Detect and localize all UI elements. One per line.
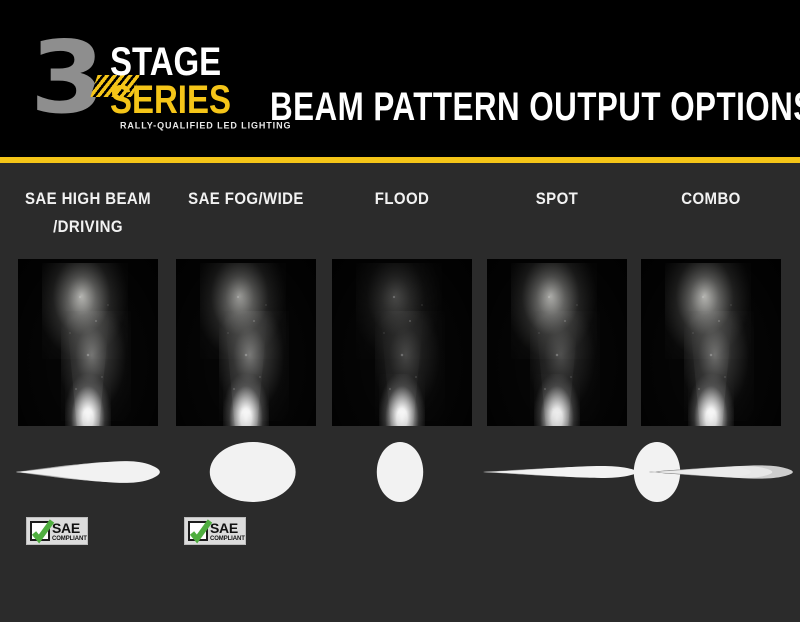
beam-column-fog-wide: SAE FOG/WIDE SAE COMPLIANT: [176, 163, 316, 622]
brand-logo: 3 STAGE SERIES RALLY-QUALIFIED LED LIGHT…: [28, 28, 238, 132]
beam-photo-vignette: [176, 259, 316, 426]
beam-column-combo: COMBO: [641, 163, 781, 622]
sae-badge-text: SAE COMPLIANT: [210, 521, 245, 542]
beam-label-line1: COMBO: [681, 189, 741, 208]
page-header: 3 STAGE SERIES RALLY-QUALIFIED LED LIGHT…: [0, 0, 800, 157]
beam-photo-vignette: [332, 259, 472, 426]
sae-badge-word: SAE: [52, 521, 87, 535]
sae-badge-text: SAE COMPLIANT: [52, 521, 87, 542]
beam-pattern-diagram: [629, 441, 793, 503]
beam-photo-vignette: [641, 259, 781, 426]
logo-word-series: SERIES: [110, 80, 231, 120]
beam-column-driving: SAE HIGH BEAM /DRIVING SAE COMPLIANT: [18, 163, 158, 622]
beam-pattern-diagram: [475, 441, 639, 503]
beam-column-label: SPOT: [473, 185, 641, 213]
sae-compliant-badge: SAE COMPLIANT: [184, 517, 246, 545]
beam-label-line1: SAE FOG/WIDE: [188, 189, 304, 208]
beam-column-label: FLOOD: [318, 185, 486, 213]
beam-photo-vignette: [487, 259, 627, 426]
logo-tagline: RALLY-QUALIFIED LED LIGHTING: [120, 120, 291, 131]
beam-photo: [176, 259, 316, 426]
checkmark-icon: [188, 521, 208, 541]
beam-photo: [487, 259, 627, 426]
beam-pattern-diagram: [320, 441, 484, 503]
checkmark-icon: [30, 521, 50, 541]
beam-column-label: SAE FOG/WIDE: [162, 185, 330, 213]
beam-photo: [18, 259, 158, 426]
logo-word-stage: STAGE: [110, 42, 221, 82]
beam-photo: [641, 259, 781, 426]
beam-photo: [332, 259, 472, 426]
beam-column-flood: FLOOD: [332, 163, 472, 622]
sae-badge-sub: COMPLIANT: [52, 536, 87, 542]
beam-column-spot: SPOT: [487, 163, 627, 622]
sae-compliant-badge: SAE COMPLIANT: [26, 517, 88, 545]
beam-pattern-diagram: [164, 441, 328, 503]
beam-pattern-diagram: [6, 441, 170, 503]
beam-column-label: SAE HIGH BEAM /DRIVING: [4, 185, 172, 241]
beam-label-line1: SAE HIGH BEAM: [25, 189, 151, 208]
beam-photo-vignette: [18, 259, 158, 426]
beam-label-line1: SPOT: [536, 189, 578, 208]
sae-badge-sub: COMPLIANT: [210, 536, 245, 542]
beam-label-line2: /DRIVING: [53, 217, 123, 236]
sae-badge-word: SAE: [210, 521, 245, 535]
logo-numeral: 3: [30, 28, 101, 128]
page-title: BEAM PATTERN OUTPUT OPTIONS: [270, 82, 764, 136]
beam-column-label: COMBO: [627, 185, 795, 213]
beam-label-line1: FLOOD: [375, 189, 430, 208]
beam-pattern-grid: SAE HIGH BEAM /DRIVING SAE COMPLIANT: [0, 163, 800, 622]
